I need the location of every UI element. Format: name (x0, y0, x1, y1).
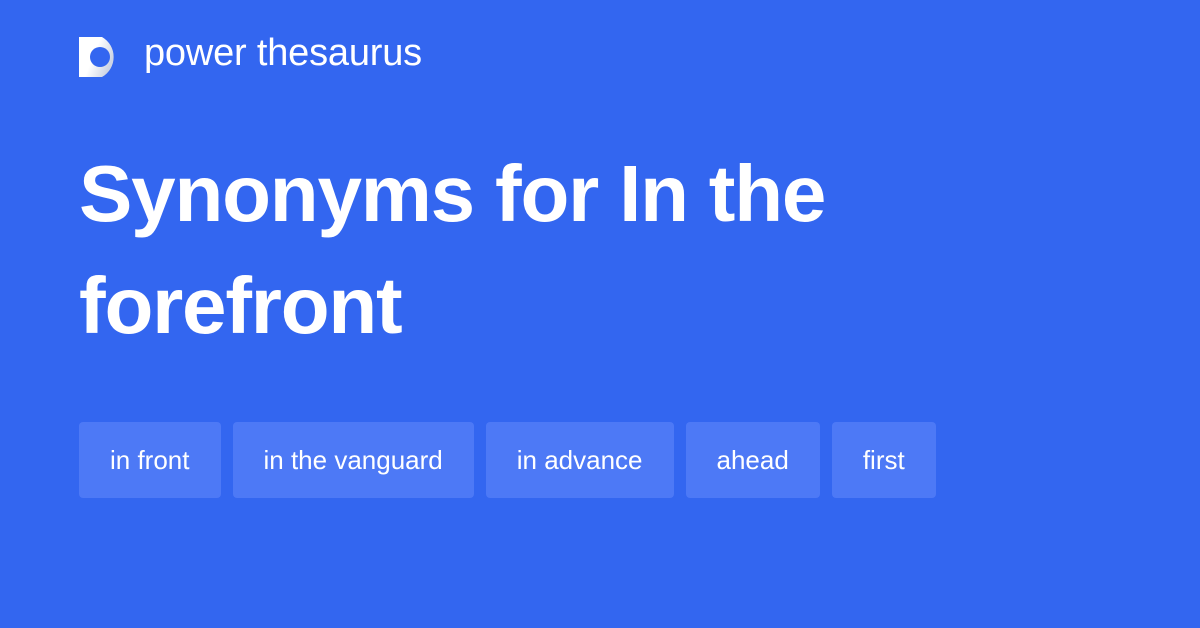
synonym-chip[interactable]: ahead (686, 422, 820, 498)
page-title: Synonyms for In the forefront (79, 138, 1079, 362)
og-card: power thesaurus Synonyms for In the fore… (0, 0, 1200, 628)
brand-name: power thesaurus (144, 29, 422, 77)
synonym-chip[interactable]: first (832, 422, 936, 498)
brand-logo[interactable]: power thesaurus (79, 29, 422, 77)
synonym-chip[interactable]: in front (79, 422, 221, 498)
synonym-chip[interactable]: in the vanguard (233, 422, 474, 498)
synonym-chip[interactable]: in advance (486, 422, 674, 498)
synonym-chip-list: in front in the vanguard in advance ahea… (79, 422, 1119, 498)
power-thesaurus-b-logo-icon (79, 29, 125, 77)
